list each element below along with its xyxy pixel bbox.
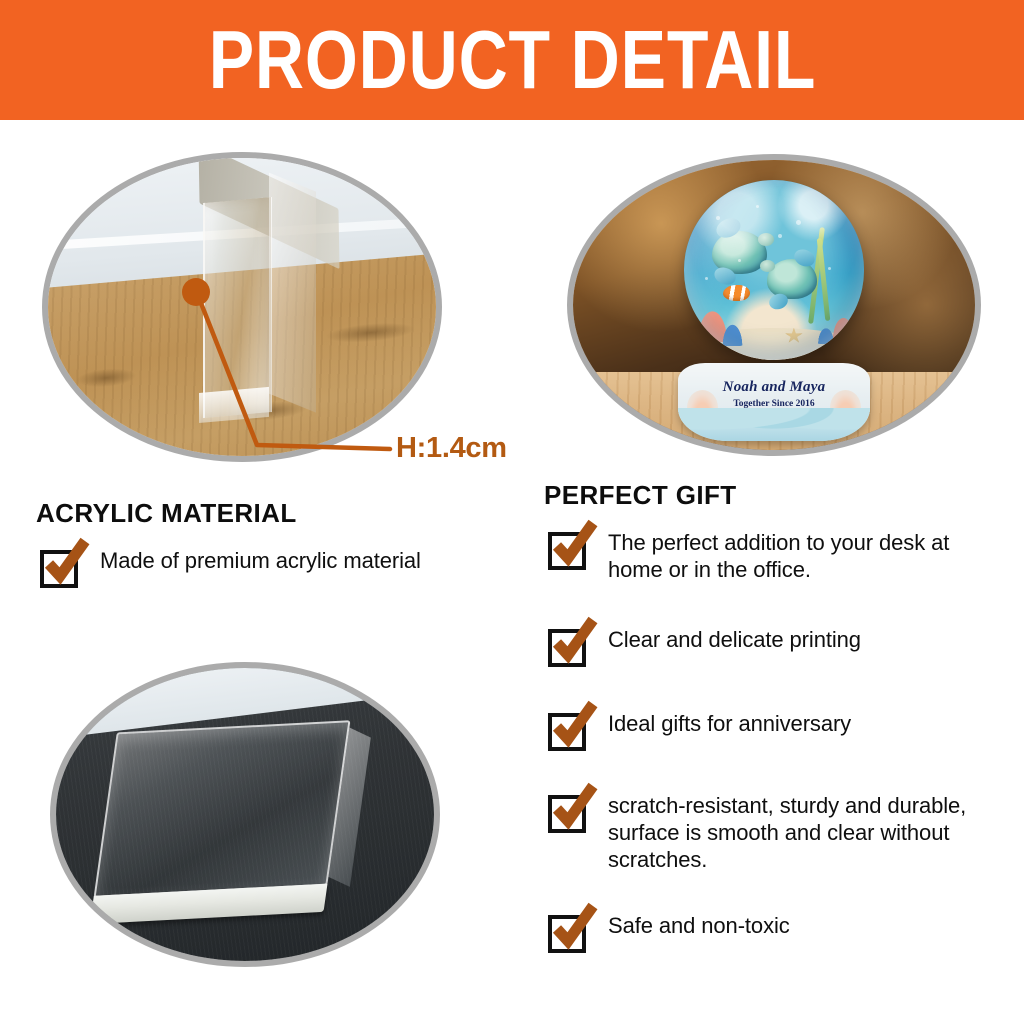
checkbox-checked-icon[interactable] bbox=[548, 915, 586, 953]
feature-label: Made of premium acrylic material bbox=[100, 548, 421, 575]
acrylic-block-photo bbox=[50, 662, 440, 967]
globe-base-subtitle: Together Since 2016 bbox=[678, 400, 871, 410]
checkbox-checked-icon[interactable] bbox=[548, 713, 586, 751]
feature-label: Ideal gifts for anniversary bbox=[608, 711, 851, 738]
feature-item: Ideal gifts for anniversary bbox=[548, 711, 998, 751]
checkbox-checked-icon[interactable] bbox=[548, 629, 586, 667]
checkbox-checked-icon[interactable] bbox=[548, 795, 586, 833]
height-label: H:1.4cm bbox=[396, 432, 507, 465]
feature-item: scratch-resistant, sturdy and durable, s… bbox=[548, 793, 1008, 873]
checkbox-checked-icon[interactable] bbox=[548, 532, 586, 570]
section-title-perfect-gift: PERFECT GIFT bbox=[544, 480, 737, 511]
feature-label: scratch-resistant, sturdy and durable, s… bbox=[608, 793, 1008, 873]
acrylic-side-face bbox=[269, 172, 316, 411]
feature-item: Made of premium acrylic material bbox=[40, 548, 510, 588]
feature-label: The perfect addition to your desk at hom… bbox=[608, 530, 998, 584]
glass-reflection bbox=[684, 180, 865, 360]
wave-trim bbox=[678, 408, 871, 441]
feature-item: Clear and delicate printing bbox=[548, 627, 998, 667]
feature-item: The perfect addition to your desk at hom… bbox=[548, 530, 998, 584]
header-banner: PRODUCT DETAIL bbox=[0, 0, 1024, 120]
acrylic-edge-photo bbox=[42, 152, 442, 462]
feature-label: Safe and non-toxic bbox=[608, 913, 790, 940]
globe-base-name: Noah and Maya bbox=[678, 380, 871, 395]
acrylic-block bbox=[94, 720, 351, 898]
snow-globe-scene: Noah and Maya Together Since 2016 bbox=[573, 160, 975, 450]
checkbox-checked-icon[interactable] bbox=[40, 550, 78, 588]
block-top-face bbox=[94, 720, 351, 898]
section-title-acrylic-material: ACRYLIC MATERIAL bbox=[36, 498, 297, 529]
product-detail-infographic: PRODUCT DETAIL bbox=[0, 0, 1024, 1024]
globe-base: Noah and Maya Together Since 2016 bbox=[678, 363, 871, 441]
acrylic-edge-scene bbox=[48, 158, 436, 456]
snow-globe-photo: Noah and Maya Together Since 2016 bbox=[567, 154, 981, 456]
page-title: PRODUCT DETAIL bbox=[208, 18, 816, 101]
glass-globe bbox=[684, 180, 865, 360]
acrylic-block-scene bbox=[56, 668, 434, 961]
acrylic-front-face bbox=[203, 197, 272, 418]
feature-label: Clear and delicate printing bbox=[608, 627, 861, 654]
feature-item: Safe and non-toxic bbox=[548, 913, 998, 953]
